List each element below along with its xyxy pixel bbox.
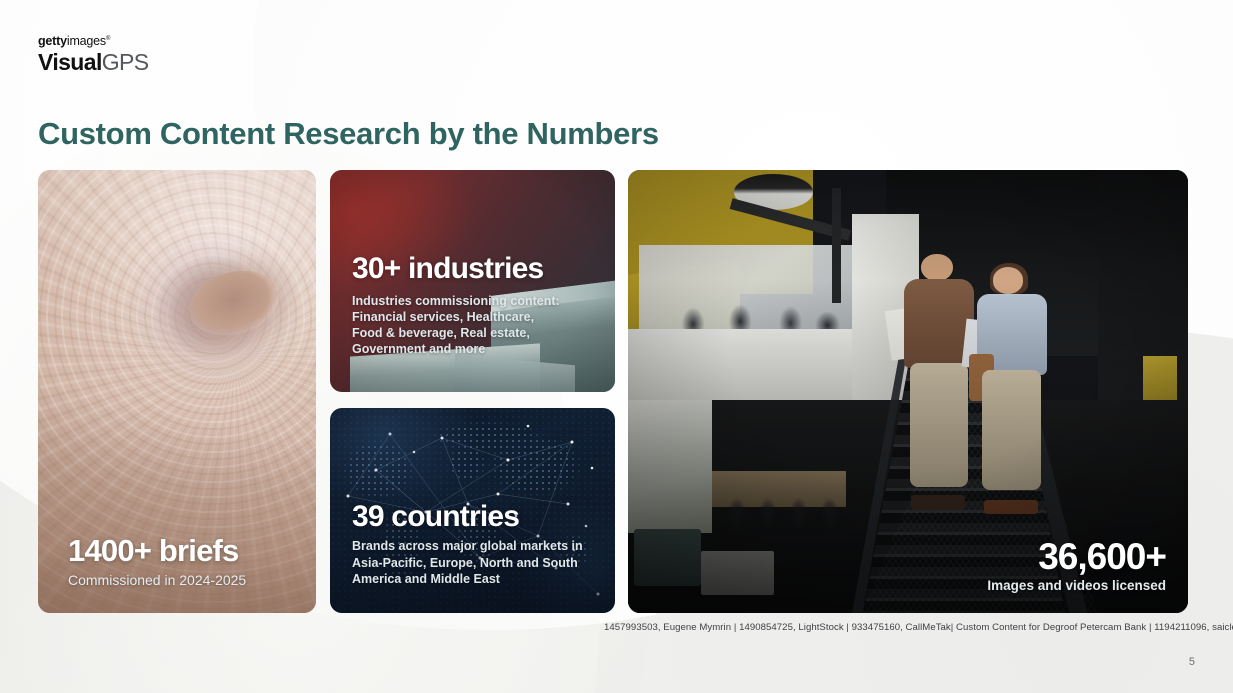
stat-caption-briefs: Commissioned in 2024-2025 <box>68 571 246 589</box>
caption-line: Brands across major global markets in <box>352 538 583 554</box>
visualgps-light: GPS <box>102 49 149 75</box>
brand-logo: gettyimages® VisualGPS <box>38 35 149 74</box>
caption-line: Industries commissioning content: <box>352 293 560 309</box>
stat-caption-industries: Industries commissioning content: Financ… <box>352 293 560 358</box>
stat-text-briefs: 1400+ briefs Commissioned in 2024-2025 <box>68 535 246 589</box>
visualgps-wordmark: VisualGPS <box>38 51 149 74</box>
getty-wordmark-bold: getty <box>38 34 67 48</box>
stat-caption-countries: Brands across major global markets in As… <box>352 538 583 587</box>
stat-value-briefs: 1400+ briefs <box>68 535 246 568</box>
page-number: 5 <box>1189 656 1195 668</box>
caption-line: America and Middle East <box>352 571 583 587</box>
stat-card-licensed: 36,600+ Images and videos licensed <box>628 170 1188 613</box>
stat-card-countries: 39 countries Brands across major global … <box>330 408 615 613</box>
stat-card-briefs: 1400+ briefs Commissioned in 2024-2025 <box>38 170 316 613</box>
stat-value-countries: 39 countries <box>352 501 583 533</box>
caption-line: Food & beverage, Real estate, <box>352 325 560 341</box>
getty-images-wordmark: gettyimages® <box>38 35 149 48</box>
registered-mark-icon: ® <box>106 36 110 42</box>
visualgps-bold: Visual <box>38 49 102 75</box>
stat-text-countries: 39 countries Brands across major global … <box>352 501 583 587</box>
stat-card-industries: 30+ industries Industries commissioning … <box>330 170 615 392</box>
caption-line: Asia-Pacific, Europe, North and South <box>352 555 583 571</box>
stat-value-licensed: 36,600+ <box>987 538 1166 577</box>
image-credits: 1457993503, Eugene Mymrin | 1490854725, … <box>604 622 1233 633</box>
getty-wordmark-light: images <box>67 34 106 48</box>
caption-line: Government and more <box>352 341 560 357</box>
stat-text-industries: 30+ industries Industries commissioning … <box>352 253 560 358</box>
page-title: Custom Content Research by the Numbers <box>38 116 659 152</box>
caption-line: Financial services, Healthcare, <box>352 309 560 325</box>
stat-caption-licensed: Images and videos licensed <box>987 577 1166 595</box>
stat-text-licensed: 36,600+ Images and videos licensed <box>987 538 1166 595</box>
stat-value-industries: 30+ industries <box>352 253 560 285</box>
